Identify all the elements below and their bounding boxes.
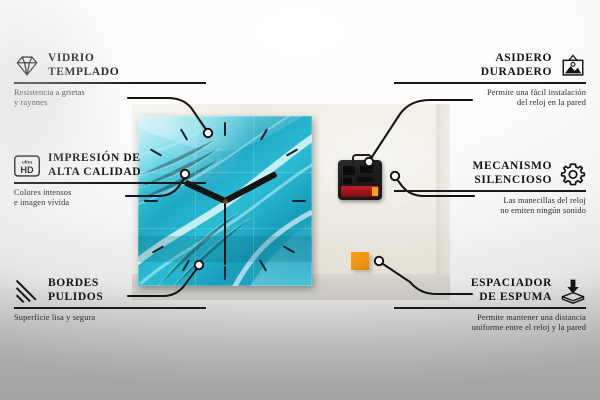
feature-description: e imagen vívida bbox=[14, 198, 206, 209]
clock-tick bbox=[292, 200, 306, 202]
ultra-label: ultra bbox=[22, 159, 32, 164]
feature-mecanismo-silencioso: MECANISMO SILENCIOSO Las manecillas del … bbox=[394, 160, 586, 217]
feature-description: Las manecillas del reloj bbox=[394, 196, 586, 207]
hd-label: HD bbox=[20, 164, 34, 174]
feature-espaciador-de-espuma: ESPACIADOR DE ESPUMA Permite mantener un… bbox=[394, 277, 586, 334]
feature-title: DURADERO bbox=[481, 66, 552, 80]
feature-impresion-alta-calidad: ultra HD IMPRESIÓN DE ALTA CALIDAD Color… bbox=[14, 152, 206, 209]
feature-description: Permite una fácil instalación bbox=[394, 88, 586, 99]
foam-spacer bbox=[351, 252, 369, 270]
second-hand bbox=[224, 201, 226, 265]
feature-title: PULIDOS bbox=[48, 291, 103, 305]
feature-title: ALTA CALIDAD bbox=[48, 166, 141, 180]
feature-description: uniforme entre el reloj y la pared bbox=[394, 323, 586, 334]
infographic-canvas: VIDRIO TEMPLADO Resistencia a grietas y … bbox=[0, 0, 600, 400]
feature-title: ASIDERO bbox=[481, 52, 552, 66]
feature-description: Resistencia a grietas bbox=[14, 88, 206, 99]
clock-center-hub bbox=[223, 199, 228, 204]
battery-terminal bbox=[372, 187, 378, 196]
feature-title: BORDES bbox=[48, 277, 103, 291]
feature-description: Colores intensos bbox=[14, 188, 206, 199]
feature-description: Superficie lisa y segura bbox=[14, 313, 206, 324]
feature-title: VIDRIO bbox=[48, 52, 119, 66]
feature-title: SILENCIOSO bbox=[472, 174, 552, 188]
feature-title: MECANISMO bbox=[472, 160, 552, 174]
gear-icon bbox=[560, 161, 586, 187]
feature-description: del reloj en la pared bbox=[394, 98, 586, 109]
feature-description: y rayones bbox=[14, 98, 206, 109]
divider bbox=[394, 307, 586, 309]
clock-tick bbox=[224, 266, 226, 280]
mechanism-hanger bbox=[352, 154, 372, 165]
feature-vidrio-templado: VIDRIO TEMPLADO Resistencia a grietas y … bbox=[14, 52, 206, 109]
feature-title: IMPRESIÓN DE bbox=[48, 152, 141, 166]
feature-description: Permite mantener una distancia bbox=[394, 313, 586, 324]
feature-asidero-duradero: ASIDERO DURADERO Permite una fácil insta… bbox=[394, 52, 586, 109]
quartz-mechanism bbox=[338, 160, 382, 200]
feature-description: no emiten ningún sonido bbox=[394, 206, 586, 217]
feature-bordes-pulidos: BORDES PULIDOS Superficie lisa y segura bbox=[14, 277, 206, 323]
hanging-frame-icon bbox=[560, 53, 586, 79]
divider bbox=[14, 82, 206, 84]
feature-title: TEMPLADO bbox=[48, 66, 119, 80]
divider bbox=[394, 82, 586, 84]
feature-title: DE ESPUMA bbox=[471, 291, 552, 305]
spacer-press-icon bbox=[560, 278, 586, 304]
ultra-hd-icon: ultra HD bbox=[14, 153, 40, 179]
diamond-icon bbox=[14, 53, 40, 79]
clock-tick bbox=[224, 122, 226, 136]
feature-title: ESPACIADOR bbox=[471, 277, 552, 291]
divider bbox=[394, 190, 586, 192]
battery bbox=[341, 186, 379, 197]
divider bbox=[14, 307, 206, 309]
polished-edges-icon bbox=[14, 278, 40, 304]
divider bbox=[14, 182, 206, 184]
